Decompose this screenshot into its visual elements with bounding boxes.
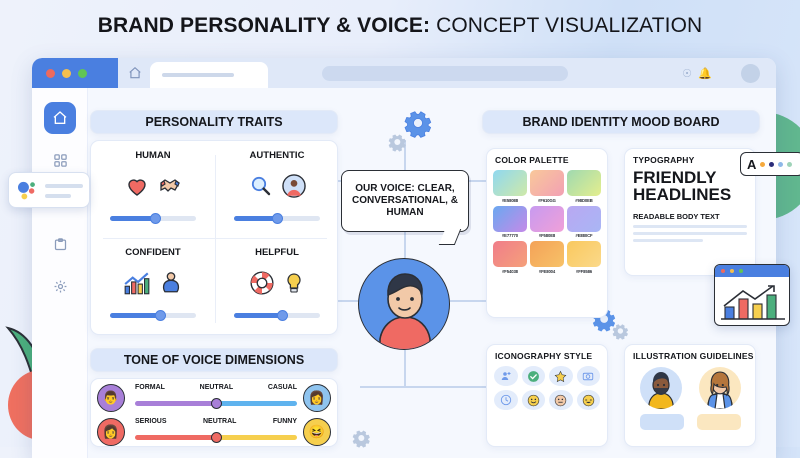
color-swatch[interactable] xyxy=(530,241,564,267)
help-icon[interactable]: ☉ xyxy=(682,67,692,80)
slider-fill xyxy=(234,313,282,318)
illustration-guidelines-card: ILLUSTRATION GUIDELINES xyxy=(624,344,756,447)
male-illustration xyxy=(640,367,682,409)
slider-fill xyxy=(110,313,160,318)
iconography-card: ICONOGRAPHY STYLE xyxy=(486,344,608,447)
swatch-hex-label: #E58088 xyxy=(493,198,527,203)
slider-track-left xyxy=(135,435,216,440)
trait-label: CONFIDENT xyxy=(91,247,215,258)
gear-icon xyxy=(53,279,68,294)
illustration-avatar-female xyxy=(699,367,741,409)
lightbulb-icon xyxy=(282,270,306,296)
color-palette-heading: COLOR PALETTE xyxy=(487,149,607,165)
serious-avatar: 👩 xyxy=(97,418,125,446)
swatch-grid: #E58088 #F610GG #98D0EB #E77770 #F580E8 … xyxy=(487,165,607,274)
body-text-placeholder-line xyxy=(633,239,703,242)
star-icon[interactable] xyxy=(549,366,573,386)
note-line xyxy=(45,194,71,198)
person-icon xyxy=(281,173,307,199)
clipboard-icon xyxy=(53,237,68,252)
close-dot[interactable] xyxy=(46,69,55,78)
grin-emoji-icon[interactable] xyxy=(577,390,601,410)
star-glyph xyxy=(554,370,567,383)
swatch-hex-label: #E77770 xyxy=(493,233,527,238)
page-title-light: CONCEPT VISUALIZATION xyxy=(436,14,702,37)
slider-knob[interactable] xyxy=(155,310,166,321)
color-swatch[interactable] xyxy=(567,206,601,232)
bell-icon[interactable]: 🔔 xyxy=(698,67,712,80)
gear-large-icon xyxy=(404,108,434,138)
color-dot[interactable] xyxy=(778,162,783,167)
swatch-hex-label: #E880CF xyxy=(567,233,601,238)
swatch-hex-label: #F610GG xyxy=(530,198,564,203)
neutral-emoji-icon[interactable] xyxy=(549,390,573,410)
add-user-icon[interactable] xyxy=(494,366,518,386)
assistant-dots-icon xyxy=(17,181,39,201)
color-dot[interactable] xyxy=(769,162,774,167)
color-palette-card: COLOR PALETTE #E58088 #F610GG #98D0EB #E… xyxy=(486,148,608,318)
tone-of-voice-card: 👨 FORMAL NEUTRAL CASUAL 👩 👩 SERIOUS NEUT… xyxy=(90,378,338,447)
personality-traits-card: HUMAN AUTHENTIC CONFIDENT xyxy=(90,140,338,335)
mood-board-heading: BRAND IDENTITY MOOD BOARD xyxy=(482,110,760,134)
typography-body-label: READABLE BODY TEXT xyxy=(625,204,755,221)
connector-line xyxy=(450,300,488,302)
swatch-cell[interactable]: #F580E8 xyxy=(530,206,564,239)
browser-tab[interactable] xyxy=(150,62,268,88)
tone-label-mid: NEUTRAL xyxy=(200,384,233,391)
tone-slider[interactable] xyxy=(135,434,297,442)
illustration-avatar-male xyxy=(640,367,682,409)
color-swatch[interactable] xyxy=(493,206,527,232)
color-swatch[interactable] xyxy=(530,206,564,232)
color-swatch[interactable] xyxy=(493,170,527,196)
page-title: BRAND PERSONALITY & VOICE: CONCEPT VISUA… xyxy=(0,14,800,38)
body-text-placeholder-line xyxy=(633,232,747,235)
iconography-heading: ICONOGRAPHY STYLE xyxy=(487,345,607,361)
sidebar-item-clipboard[interactable] xyxy=(44,228,76,260)
trait-slider[interactable] xyxy=(110,215,196,222)
gear-small-icon xyxy=(352,428,372,448)
swatch-hex-label: #F580E8 xyxy=(530,233,564,238)
camera-glyph xyxy=(582,370,594,382)
trait-slider[interactable] xyxy=(234,215,320,222)
check-icon[interactable] xyxy=(522,366,546,386)
illustration-samples xyxy=(625,361,755,409)
smile-emoji-icon[interactable] xyxy=(522,390,546,410)
maximize-dot[interactable] xyxy=(78,69,87,78)
color-swatch[interactable] xyxy=(567,241,601,267)
camera-icon[interactable] xyxy=(577,366,601,386)
illustration-block xyxy=(697,414,741,430)
smile-glyph xyxy=(527,394,540,407)
color-dot[interactable] xyxy=(760,162,765,167)
tone-label-mid: NEUTRAL xyxy=(203,418,236,425)
user-avatar[interactable] xyxy=(741,64,760,83)
typography-heading: TYPOGRAPHY xyxy=(625,149,755,165)
trait-slider[interactable] xyxy=(110,312,196,319)
gear-small-icon xyxy=(612,322,630,340)
trait-confident: CONFIDENT xyxy=(91,238,215,335)
formal-avatar: 👨 xyxy=(97,384,125,412)
home-icon[interactable] xyxy=(128,66,142,80)
slider-fill xyxy=(110,216,155,221)
slider-track-right xyxy=(216,435,297,440)
tone-label-left: SERIOUS xyxy=(135,418,167,425)
trait-icons xyxy=(91,260,215,306)
browser-titlebar: ☉ 🔔 xyxy=(32,58,776,88)
trait-slider[interactable] xyxy=(234,312,320,319)
slider-knob[interactable] xyxy=(211,398,222,409)
trait-helpful: HELPFUL xyxy=(215,238,339,335)
color-dot[interactable] xyxy=(787,162,792,167)
add-user-glyph xyxy=(500,370,512,382)
sidebar xyxy=(32,88,88,458)
swatch-cell[interactable]: #98D0EB xyxy=(567,170,601,203)
url-bar[interactable] xyxy=(322,66,568,81)
tone-scale-labels: SERIOUS NEUTRAL FUNNY xyxy=(135,418,297,425)
floating-notification-card[interactable] xyxy=(8,172,90,208)
grid-icon xyxy=(53,153,68,168)
lifebuoy-icon xyxy=(249,270,275,296)
slider-knob[interactable] xyxy=(150,213,161,224)
body-text-placeholder-line xyxy=(633,225,747,228)
trait-icons xyxy=(215,163,339,209)
swatch-cell[interactable]: #E58088 xyxy=(493,170,527,203)
traffic-light-block xyxy=(32,58,118,88)
swatch-cell[interactable]: #FE8004 xyxy=(530,241,564,274)
close-dot[interactable] xyxy=(721,269,725,273)
swatch-cell[interactable]: #E77770 xyxy=(493,206,527,239)
swatch-cell[interactable]: #E880CF xyxy=(567,206,601,239)
heart-icon xyxy=(124,174,150,198)
illustration-heading: ILLUSTRATION GUIDELINES xyxy=(625,345,755,361)
note-line xyxy=(45,184,83,188)
slider-knob[interactable] xyxy=(211,432,222,443)
connector-line xyxy=(360,386,490,388)
neutral-glyph xyxy=(554,394,567,407)
slider-knob[interactable] xyxy=(272,213,283,224)
chart-window-titlebar xyxy=(715,265,789,277)
tone-of-voice-heading: TONE OF VOICE DIMENSIONS xyxy=(90,348,338,372)
tone-label-left: FORMAL xyxy=(135,384,165,391)
slider-knob[interactable] xyxy=(277,310,288,321)
icon-sample-grid xyxy=(487,361,607,410)
personality-traits-heading: PERSONALITY TRAITS xyxy=(90,110,338,134)
color-swatch[interactable] xyxy=(567,170,601,196)
slider-track-left xyxy=(135,401,216,406)
typography-headline-sample: FRIENDLY HEADLINES xyxy=(625,165,755,204)
grin-glyph xyxy=(582,394,595,407)
tone-row-formality: 👨 FORMAL NEUTRAL CASUAL 👩 xyxy=(91,381,337,415)
tone-label-right: FUNNY xyxy=(273,418,297,425)
trait-label: HELPFUL xyxy=(215,247,339,258)
funny-avatar: 😆 xyxy=(303,418,331,446)
color-swatch[interactable] xyxy=(493,241,527,267)
brand-persona-avatar xyxy=(358,258,450,350)
tone-scale-labels: FORMAL NEUTRAL CASUAL xyxy=(135,384,297,391)
trait-icons xyxy=(91,163,215,209)
tone-row-humor: 👩 SERIOUS NEUTRAL FUNNY 😆 xyxy=(91,415,337,449)
voice-statement: OUR VOICE: CLEAR, CONVERSATIONAL, & HUMA… xyxy=(342,183,468,220)
maximize-dot[interactable] xyxy=(739,269,743,273)
illustration-color-blocks xyxy=(625,409,755,430)
clock-glyph xyxy=(500,394,512,406)
trait-label: HUMAN xyxy=(91,150,215,161)
illustration-block xyxy=(640,414,684,430)
slider-fill xyxy=(234,216,277,221)
swatch-cell[interactable]: #FF8586 xyxy=(567,241,601,274)
trait-label: AUTHENTIC xyxy=(215,150,339,161)
swatch-cell[interactable]: #F610GG xyxy=(530,170,564,203)
flex-person-icon xyxy=(158,270,184,296)
female-illustration xyxy=(699,367,741,409)
connector-line xyxy=(404,350,406,386)
minimize-dot[interactable] xyxy=(730,269,734,273)
connector-line xyxy=(338,300,360,302)
magnifier-icon xyxy=(248,174,274,198)
trait-icons xyxy=(215,260,339,306)
tone-label-right: CASUAL xyxy=(268,384,297,391)
trait-human: HUMAN xyxy=(91,141,215,238)
slider-track-right xyxy=(216,401,297,406)
home-icon xyxy=(52,110,68,126)
swatch-hex-label: #98D0EB xyxy=(567,198,601,203)
trait-authentic: AUTHENTIC xyxy=(215,141,339,238)
color-swatch[interactable] xyxy=(530,170,564,196)
minimize-dot[interactable] xyxy=(62,69,71,78)
connector-line xyxy=(404,232,406,260)
floating-chart-window[interactable] xyxy=(714,264,790,326)
page-title-bold: BRAND PERSONALITY & VOICE: xyxy=(98,14,430,37)
tab-title-placeholder xyxy=(162,73,234,77)
typography-card: TYPOGRAPHY FRIENDLY HEADLINES READABLE B… xyxy=(624,148,756,276)
clock-icon[interactable] xyxy=(494,390,518,410)
swatch-cell[interactable]: #F54038 xyxy=(493,241,527,274)
voice-speech-bubble: OUR VOICE: CLEAR, CONVERSATIONAL, & HUMA… xyxy=(341,170,469,232)
sidebar-item-settings[interactable] xyxy=(44,270,76,302)
tone-slider[interactable] xyxy=(135,400,297,408)
persona-illustration xyxy=(359,259,450,350)
swatch-hex-label: #F54038 xyxy=(493,269,527,274)
letter-a-icon: A xyxy=(747,157,756,172)
gear-small-icon xyxy=(388,132,408,152)
check-glyph xyxy=(527,370,540,383)
typography-color-chip[interactable]: A xyxy=(740,152,800,176)
swatch-hex-label: #FE8004 xyxy=(530,269,564,274)
analytics-chart-icon xyxy=(715,277,790,325)
swatch-hex-label: #FF8586 xyxy=(567,269,601,274)
growth-chart-icon xyxy=(123,270,151,296)
casual-avatar: 👩 xyxy=(303,384,331,412)
handshake-icon xyxy=(157,174,183,198)
sidebar-item-home[interactable] xyxy=(44,102,76,134)
